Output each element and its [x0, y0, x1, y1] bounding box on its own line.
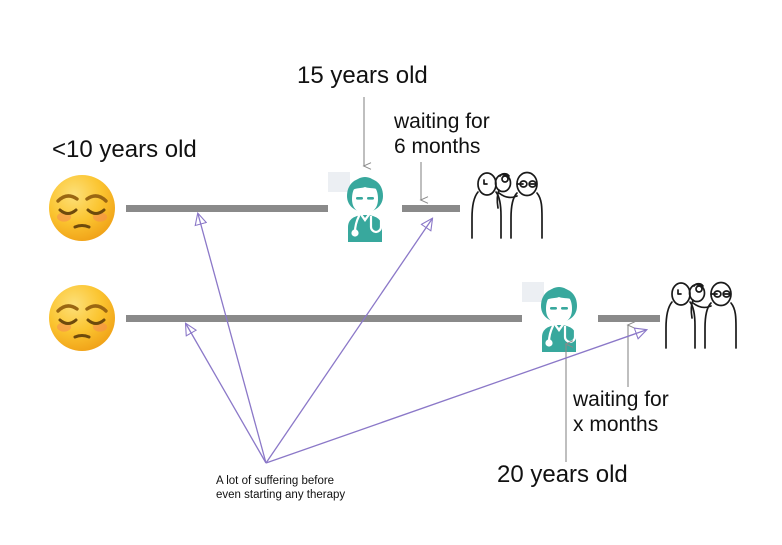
caption-line-2: even starting any therapy	[216, 488, 345, 503]
diagram-canvas: <10 years old 15 years old waiting for 6…	[0, 0, 782, 545]
therapy-session-icon	[464, 170, 546, 242]
label-age-fifteen: 15 years old	[297, 62, 428, 90]
suffering-arrow-top-left	[198, 214, 266, 463]
timeline-bar-top-left	[126, 205, 333, 212]
therapy-session-top	[464, 170, 546, 247]
pensive-face-emoji-bottom	[46, 282, 118, 359]
suffering-arrow-top-right	[266, 219, 432, 463]
pensive-face-icon	[46, 282, 118, 354]
label-age-twenty: 20 years old	[497, 461, 628, 489]
pensive-face-icon	[46, 172, 118, 244]
timeline-bar-bottom-left	[126, 315, 526, 322]
caption-line-1: A lot of suffering before	[216, 474, 334, 489]
doctor-avatar-top	[328, 172, 402, 247]
doctor-avatar-icon	[328, 172, 402, 242]
pensive-face-emoji-top	[46, 172, 118, 249]
therapy-session-icon	[658, 280, 740, 352]
label-waiting-bottom: waiting for x months	[573, 388, 669, 438]
suffering-arrow-bottom-left	[186, 324, 266, 463]
doctor-avatar-bottom	[522, 282, 596, 357]
doctor-avatar-icon	[522, 282, 596, 352]
timeline-bar-top-right	[397, 205, 460, 212]
timeline-bar-bottom-right	[598, 315, 660, 322]
label-age-young: <10 years old	[52, 136, 197, 164]
label-waiting-top: waiting for 6 months	[394, 110, 490, 160]
therapy-session-bottom	[658, 280, 740, 357]
